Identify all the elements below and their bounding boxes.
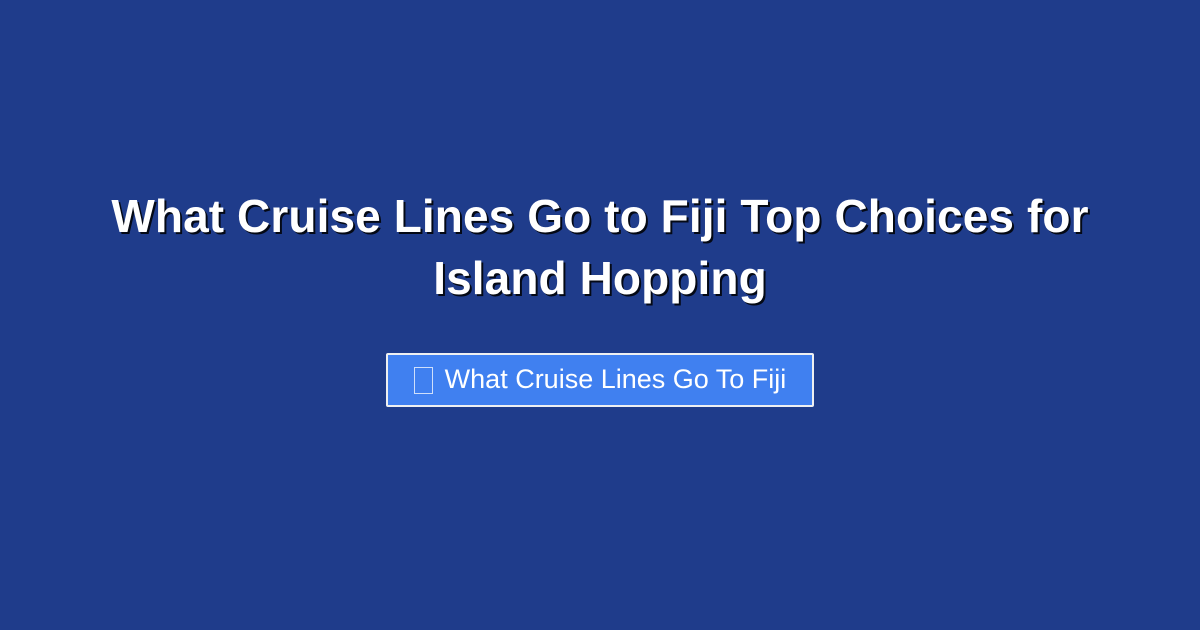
cta-wrapper: What Cruise Lines Go To Fiji <box>386 353 815 407</box>
card-content-stack: What Cruise Lines Go to Fiji Top Choices… <box>100 185 1100 407</box>
cta-button-label: What Cruise Lines Go To Fiji <box>445 363 787 395</box>
cta-button[interactable]: What Cruise Lines Go To Fiji <box>386 353 815 407</box>
missing-glyph-box-icon <box>414 367 433 394</box>
page-title: What Cruise Lines Go to Fiji Top Choices… <box>100 185 1100 309</box>
open-graph-card: What Cruise Lines Go to Fiji Top Choices… <box>0 0 1200 630</box>
